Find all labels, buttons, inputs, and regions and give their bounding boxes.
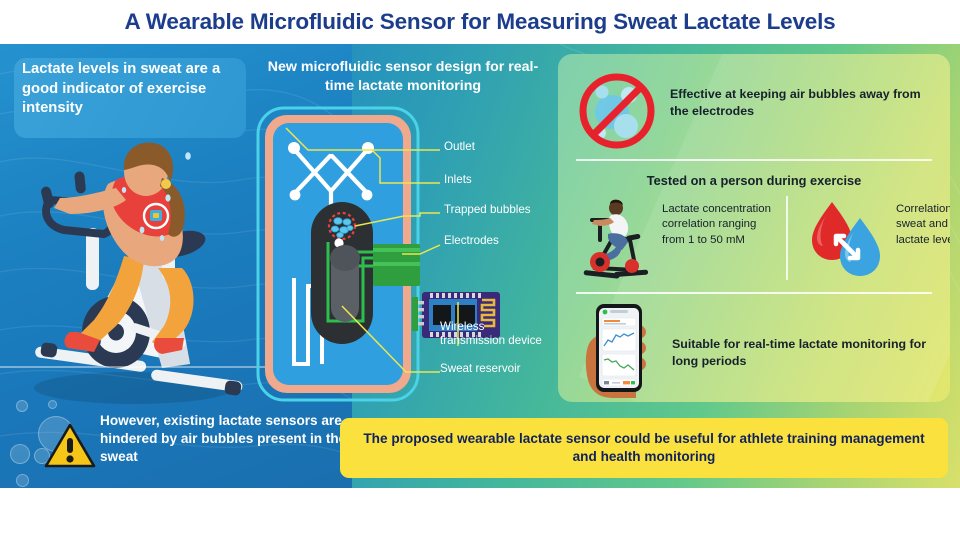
finding-1-text: Effective at keeping air bubbles away fr… <box>670 86 924 119</box>
bubble-decoration <box>16 400 28 412</box>
title-bar: A Wearable Microfluidic Sensor for Measu… <box>0 0 960 44</box>
main-canvas: Lactate levels in sweat are a good indic… <box>0 44 960 488</box>
finding-2-vertical-divider <box>786 196 788 280</box>
callout-label-outlet: Outlet <box>444 140 475 154</box>
finding-3-text: Suitable for real-time lactate monitorin… <box>672 336 940 369</box>
callout-label-trapped-bubbles: Trapped bubbles <box>444 203 531 217</box>
infographic-page: A Wearable Microfluidic Sensor for Measu… <box>0 0 960 540</box>
footer: 東京理科大学 TOKYO UNIVERSITY OF SCIENCE Air-B… <box>0 488 960 540</box>
finding-2-right-text: Correlation between sweat and blood lact… <box>896 202 950 248</box>
finding-2-heading: Tested on a person during exercise <box>558 172 950 189</box>
right-panel: Effective at keeping air bubbles away fr… <box>558 54 950 402</box>
callout-leader-lines <box>256 106 556 426</box>
callout-label-inlets: Inlets <box>444 173 472 187</box>
blood-and-sweat-droplets-icon <box>804 196 886 282</box>
hand-holding-smartphone-icon <box>582 302 656 398</box>
callout-label-sweat-reservoir: Sweat reservoir <box>440 362 521 376</box>
page-title: A Wearable Microfluidic Sensor for Measu… <box>125 9 836 35</box>
warning-triangle-icon <box>44 422 96 470</box>
conclusion-text: The proposed wearable lactate sensor cou… <box>340 430 948 467</box>
man-on-spin-bike-icon <box>580 196 652 282</box>
woman-on-exercise-bike-illustration <box>12 136 250 418</box>
right-panel-divider-1 <box>576 159 932 161</box>
callout-label-wireless-transmission-device: Wireless transmission device <box>440 320 542 348</box>
right-panel-divider-2 <box>576 292 932 294</box>
finding-2-left-text: Lactate concentration correlation rangin… <box>662 202 774 248</box>
bubble-decoration <box>48 400 57 409</box>
left-headline-text: Lactate levels in sweat are a good indic… <box>22 60 244 119</box>
no-bubbles-prohibited-icon <box>576 70 660 150</box>
bubble-decoration <box>16 474 29 487</box>
bubble-decoration <box>10 444 30 464</box>
callout-label-electrodes: Electrodes <box>444 234 499 248</box>
conclusion-banner: The proposed wearable lactate sensor cou… <box>340 418 948 478</box>
center-headline: New microfluidic sensor design for real-… <box>258 58 548 96</box>
